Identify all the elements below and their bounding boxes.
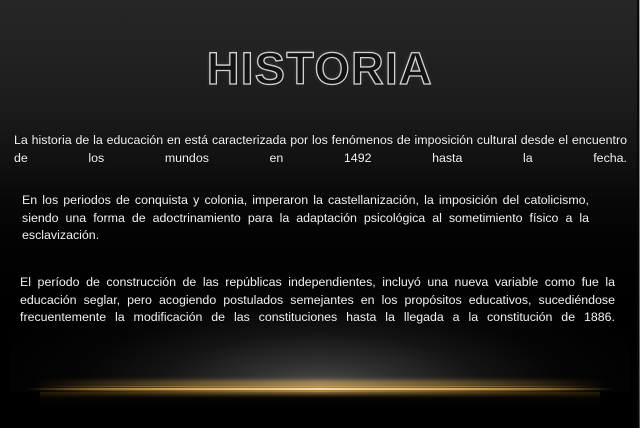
slide-title: HISTORIA (207, 46, 433, 91)
body-paragraph-3: El período de construcción de las repúbl… (20, 274, 615, 344)
slide-title-container: HISTORIA (0, 46, 640, 91)
body-paragraph-1: La historia de la educación en está cara… (14, 132, 627, 185)
presentation-slide: HISTORIA La historia de la educación en … (0, 0, 640, 428)
slide-background-floor (0, 392, 640, 428)
body-paragraph-2: En los periodos de conquista y colonia, … (22, 192, 589, 262)
